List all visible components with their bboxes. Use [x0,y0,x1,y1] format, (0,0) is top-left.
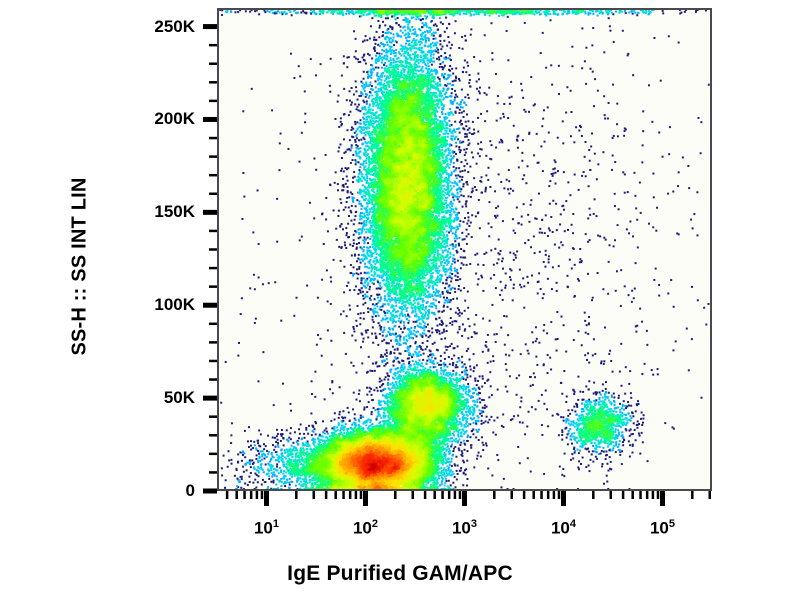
y-tick-label: 250K [125,17,195,37]
y-tick-label: 50K [125,388,195,408]
x-tick-mantissa: 10 [650,519,669,538]
y-tick-label: 200K [125,109,195,129]
plot-canvas [217,8,712,491]
x-tick-exponent: 4 [570,518,576,530]
x-tick-exponent: 3 [471,518,477,530]
x-axis-tick-labels: 101102103104105 [0,518,800,558]
y-tick-label: 0 [125,481,195,501]
x-tick-mantissa: 10 [452,519,471,538]
x-axis-title: IgE Purified GAM/APC [0,562,800,586]
x-tick-label: 105 [650,518,675,539]
flow-cytometry-figure: SS-H :: SS INT LIN 050K100K150K200K250K … [0,0,800,600]
x-tick-mantissa: 10 [551,519,570,538]
x-tick-exponent: 2 [372,518,378,530]
y-axis-title: SS-H :: SS INT LIN [69,127,92,407]
x-tick-exponent: 1 [273,518,279,530]
x-tick-mantissa: 10 [353,519,372,538]
x-tick-mantissa: 10 [254,519,273,538]
y-axis-tick-labels: 050K100K150K200K250K [125,0,195,600]
scatter-point-layer [219,10,710,489]
x-tick-exponent: 5 [669,518,675,530]
x-tick-label: 103 [452,518,477,539]
x-tick-label: 102 [353,518,378,539]
y-tick-label: 100K [125,295,195,315]
x-tick-label: 101 [254,518,279,539]
x-tick-label: 104 [551,518,576,539]
y-tick-label: 150K [125,202,195,222]
